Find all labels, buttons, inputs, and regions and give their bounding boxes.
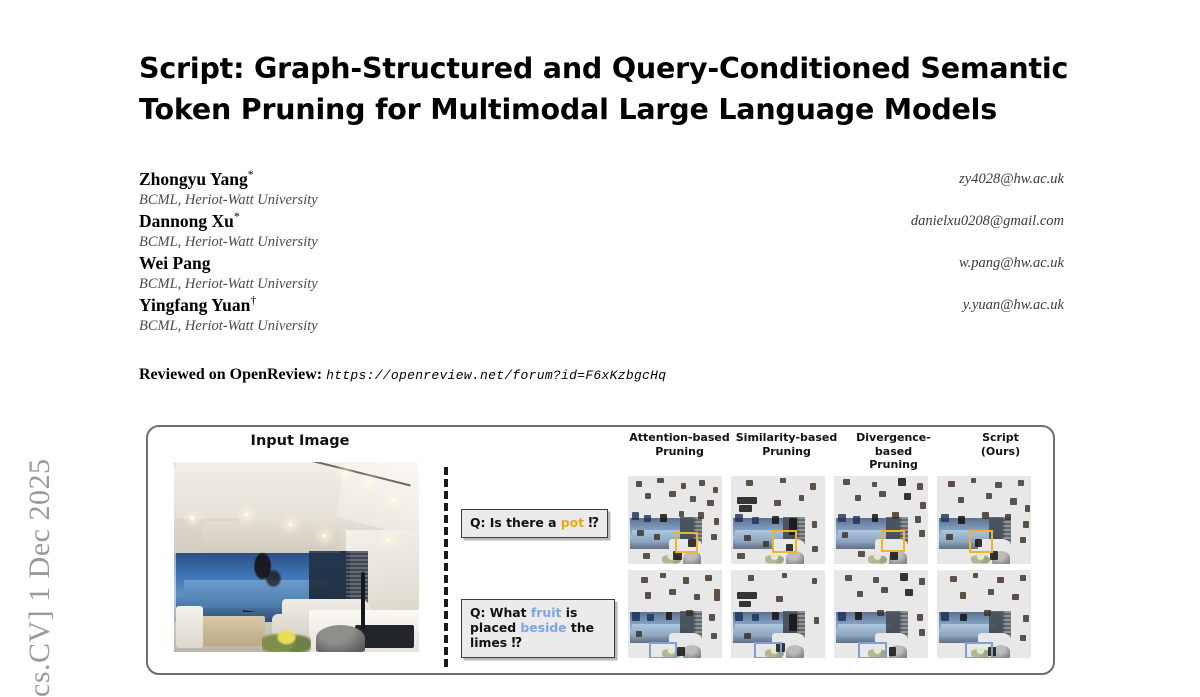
highlight-box <box>772 530 796 553</box>
author-mark: * <box>234 209 240 223</box>
author-name: Wei Pang <box>139 253 210 273</box>
question-bubble-1: Q: Is there a pot ⁉ <box>461 509 608 538</box>
highlight-box <box>649 642 677 658</box>
pruning-thumbnail[interactable] <box>834 476 928 564</box>
author-name: Yingfang Yuan† <box>139 295 256 315</box>
photo-ceiling-light <box>287 521 294 528</box>
input-image-photo <box>174 462 419 652</box>
pruning-thumbnail[interactable] <box>834 570 928 658</box>
photo-chair <box>176 606 203 648</box>
photo-ceiling-light <box>189 515 196 522</box>
author-affiliation: BCML, Heriot-Watt University <box>139 192 318 208</box>
author-block: Zhongyu Yang* zy4028@hw.ac.uk BCML, Heri… <box>139 169 1064 337</box>
photo-flowers <box>262 625 311 652</box>
pruning-column-headers: Attention-based Pruning Similarity-based… <box>626 427 1054 472</box>
arxiv-stamp: cs.CV] 1 Dec 2025 <box>0 0 96 648</box>
page-title-line-1: Script: Graph-Structured and Query-Condi… <box>139 48 1069 89</box>
photo-ceiling-light <box>385 536 392 543</box>
author-affiliation: BCML, Heriot-Watt University <box>139 318 318 334</box>
reviewed-on-line: Reviewed on OpenReview: https://openrevi… <box>139 366 1064 384</box>
column-header-script-ours: Script (Ours) <box>947 431 1054 472</box>
author-email[interactable]: y.yuan@hw.ac.uk <box>963 295 1064 316</box>
highlight-box <box>858 642 886 658</box>
arxiv-stamp-label: cs.CV] 1 Dec 2025 <box>23 277 57 697</box>
photo-pot <box>316 625 365 652</box>
author-email[interactable]: w.pang@hw.ac.uk <box>959 253 1064 274</box>
author-mark: † <box>250 293 256 307</box>
pruning-thumbnail[interactable] <box>937 476 1031 564</box>
pruning-row-question-1 <box>626 476 1054 564</box>
column-header-similarity-based-pruning: Similarity-based Pruning <box>733 431 840 472</box>
author-row: Wei Pang w.pang@hw.ac.uk <box>139 253 1064 274</box>
pruning-thumbnail[interactable] <box>937 570 1031 658</box>
question-mark-emoji: ⁉ <box>512 636 523 651</box>
pruning-thumbnail[interactable] <box>731 476 825 564</box>
photo-ceiling-light <box>341 470 348 477</box>
teaser-figure-panel: Input Image <box>146 425 1055 675</box>
author-name: Dannong Xu* <box>139 211 240 231</box>
question-bubble-2: Q: What fruit is placed beside the limes… <box>461 599 615 658</box>
author-email[interactable]: zy4028@hw.ac.uk <box>959 169 1064 190</box>
pruning-comparison-grid: Attention-based Pruning Similarity-based… <box>626 427 1054 675</box>
author-email[interactable]: danielxu0208@gmail.com <box>911 211 1064 232</box>
input-image-block: Input Image <box>174 432 426 652</box>
question-keyword: fruit <box>531 605 562 620</box>
highlight-box <box>965 642 993 658</box>
affiliation-row: BCML, Heriot-Watt University <box>139 274 1064 295</box>
photo-ceiling-light <box>390 496 397 503</box>
photo-ceiling-light <box>243 511 250 518</box>
affiliation-row: BCML, Heriot-Watt University <box>139 190 1064 211</box>
column-header-divergence-based-pruning: Divergence-based Pruning <box>840 431 947 472</box>
input-image-heading: Input Image <box>174 432 426 450</box>
photo-faucet <box>361 572 365 629</box>
pruning-row-question-2 <box>626 570 1054 658</box>
pruning-thumbnail-rows <box>626 476 1054 658</box>
reviewed-on-label: Reviewed on OpenReview: <box>139 366 322 383</box>
affiliation-row: BCML, Heriot-Watt University <box>139 232 1064 253</box>
author-affiliation: BCML, Heriot-Watt University <box>139 276 318 292</box>
author-row: Zhongyu Yang* zy4028@hw.ac.uk <box>139 169 1064 190</box>
question-prefix: Q: Is there a <box>470 515 561 530</box>
highlight-box <box>675 532 698 553</box>
section-divider <box>444 467 448 667</box>
highlight-box <box>969 530 993 553</box>
page-title-line-2: Token Pruning for Multimodal Large Langu… <box>139 89 1069 130</box>
author-mark: * <box>248 167 254 181</box>
question-keyword-2: beside <box>520 620 566 635</box>
column-header-attention-based-pruning: Attention-based Pruning <box>626 431 733 472</box>
question-mark-emoji: ⁉ <box>588 516 599 531</box>
pruning-thumbnail[interactable] <box>628 476 722 564</box>
author-row: Yingfang Yuan† y.yuan@hw.ac.uk <box>139 295 1064 316</box>
pruning-thumbnail[interactable] <box>731 570 825 658</box>
author-row: Dannong Xu* danielxu0208@gmail.com <box>139 211 1064 232</box>
author-name: Zhongyu Yang* <box>139 169 254 189</box>
question-keyword: pot <box>561 515 584 530</box>
pruning-thumbnail[interactable] <box>628 570 722 658</box>
question-prefix: Q: What <box>470 605 531 620</box>
highlight-box <box>881 530 905 552</box>
paper-body: Script: Graph-Structured and Query-Condi… <box>139 0 1064 648</box>
highlight-box <box>754 642 782 658</box>
page-title: Script: Graph-Structured and Query-Condi… <box>139 48 1069 130</box>
openreview-link[interactable]: https://openreview.net/forum?id=F6xKzbgc… <box>326 368 666 383</box>
author-affiliation: BCML, Heriot-Watt University <box>139 234 318 250</box>
affiliation-row: BCML, Heriot-Watt University <box>139 316 1064 337</box>
